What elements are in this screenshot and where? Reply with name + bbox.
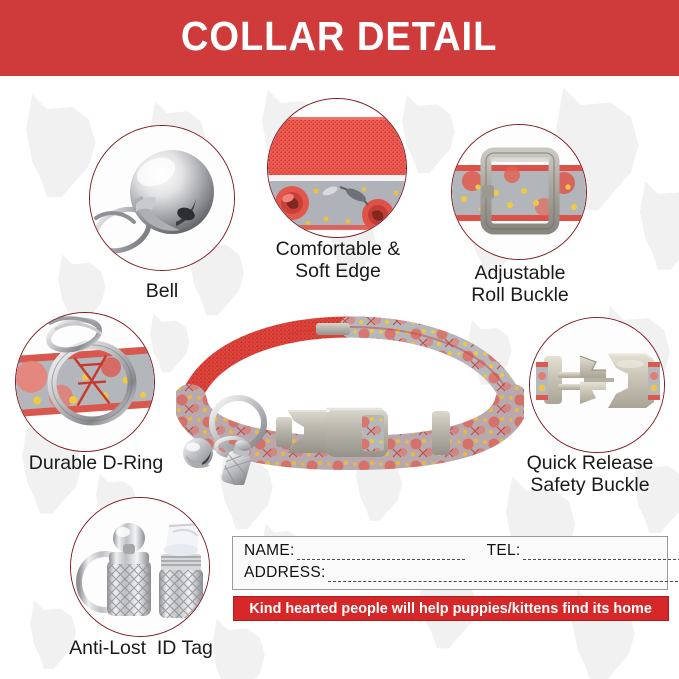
- name-label: NAME:: [244, 542, 295, 560]
- card-row-name: NAME: TEL:: [244, 542, 679, 560]
- callout-soft-edge-caption: Comfortable & Soft Edge: [257, 238, 419, 282]
- soft-edge-photo-circle: [267, 98, 407, 238]
- d-ring-photo-circle: [15, 312, 155, 452]
- quick-release-buckle-icon: [530, 318, 665, 453]
- bell-photo-circle: [89, 125, 235, 271]
- header-banner: COLLAR DETAIL: [0, 0, 679, 76]
- d-ring-icon: [16, 313, 155, 452]
- roll-buckle-icon: [452, 125, 587, 260]
- address-input-line[interactable]: [328, 571, 678, 582]
- callout-quick-release-caption: Quick Release Safety Buckle: [506, 452, 674, 496]
- card-row-address: ADDRESS:: [244, 564, 678, 582]
- product-collar-image: [176, 305, 524, 485]
- callout-id-tag-caption: Anti-Lost ID Tag: [48, 637, 234, 659]
- webbing-ribbon-icon: [268, 99, 407, 238]
- roll-buckle-photo-circle: [451, 124, 587, 260]
- tel-input-line[interactable]: [523, 549, 679, 560]
- callout-roll-buckle-caption: Adjustable Roll Buckle: [440, 262, 600, 306]
- slogan-text: Kind hearted people will help puppies/ki…: [250, 601, 652, 616]
- owner-info-card: NAME: TEL: ADDRESS:: [232, 536, 668, 590]
- bell-icon: [90, 126, 235, 271]
- callout-bell-caption: Bell: [92, 280, 232, 302]
- quick-release-photo-circle: [529, 317, 665, 453]
- tel-label: TEL:: [487, 542, 521, 560]
- page-title: COLLAR DETAIL: [181, 16, 497, 60]
- callout-d-ring-caption: Durable D-Ring: [6, 452, 186, 474]
- id-tag-photo-circle: [70, 497, 210, 637]
- slogan-banner: Kind hearted people will help puppies/ki…: [233, 596, 669, 621]
- id-tag-capsule-icon: [71, 498, 210, 637]
- address-label: ADDRESS:: [244, 564, 326, 582]
- name-input-line[interactable]: [297, 549, 465, 560]
